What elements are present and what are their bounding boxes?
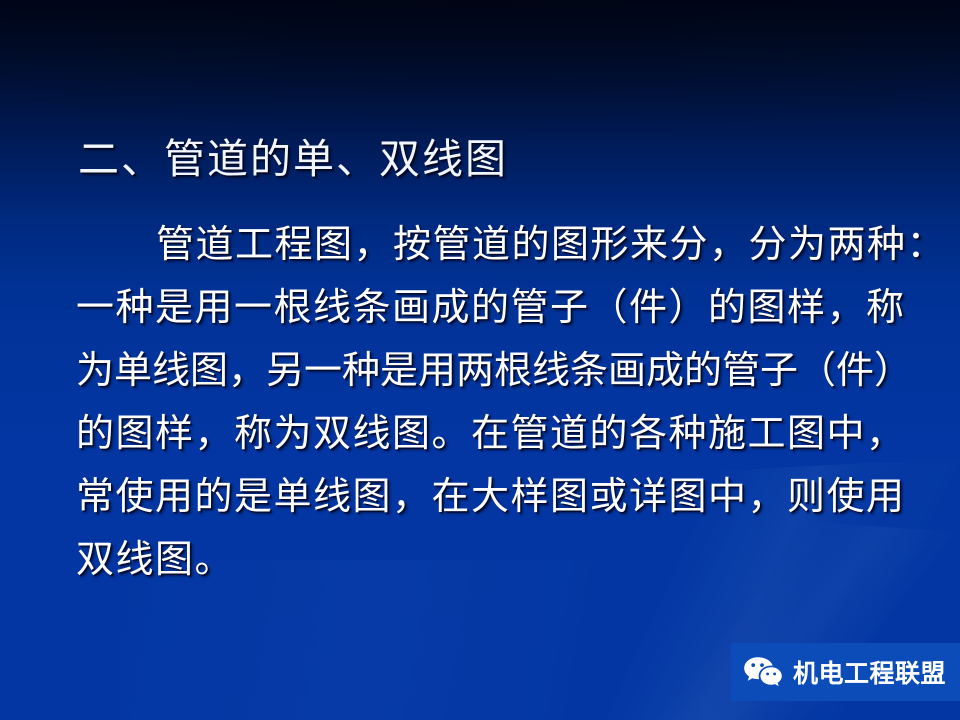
body-line: 双线图。 [76, 529, 888, 592]
wechat-icon [743, 656, 783, 688]
watermark-badge: 机电工程联盟 [731, 643, 960, 701]
slide-body: 管道工程图，按管道的图形来分，分为两种： 一种是用一根线条画成的管子（件）的图样… [76, 214, 888, 592]
presentation-slide: 二、管道的单、双线图 管道工程图，按管道的图形来分，分为两种： 一种是用一根线条… [0, 0, 960, 720]
body-line: 管道工程图，按管道的图形来分，分为两种： [76, 214, 888, 277]
body-line: 为单线图，另一种是用两根线条画成的管子（件） [76, 340, 888, 403]
body-line: 的图样，称为双线图。在管道的各种施工图中， [76, 403, 888, 466]
slide-heading: 二、管道的单、双线图 [78, 131, 508, 187]
body-line: 一种是用一根线条画成的管子（件）的图样，称 [76, 277, 888, 340]
body-line: 常使用的是单线图，在大样图或详图中，则使用 [76, 466, 888, 529]
watermark-label: 机电工程联盟 [793, 654, 946, 690]
top-vignette [0, 0, 960, 240]
